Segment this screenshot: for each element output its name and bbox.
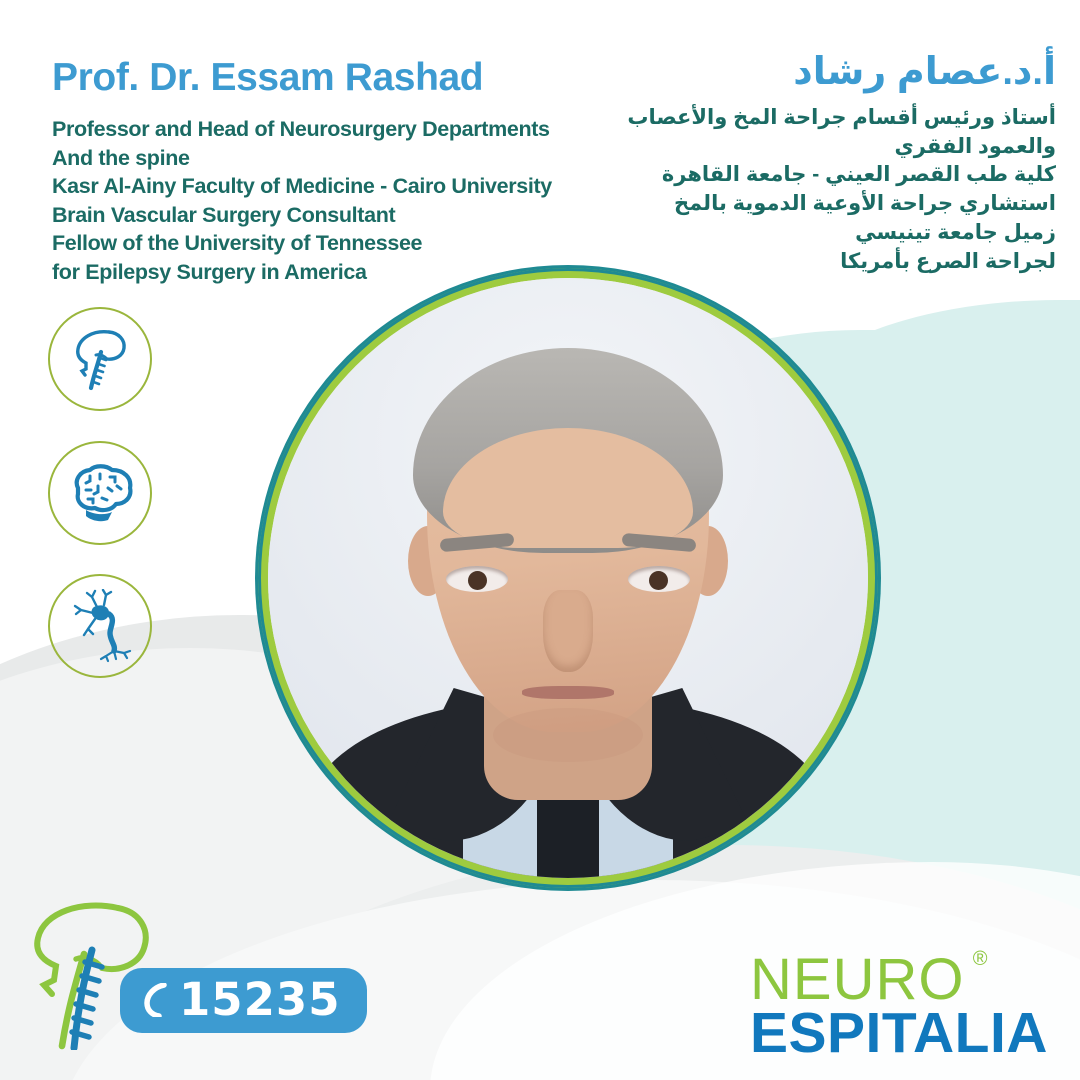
brand-logo: NEURO ® ESPITALIA: [750, 952, 1050, 1062]
phone-number: 15235: [179, 977, 341, 1022]
credential-line-ar: والعمود الفقري: [626, 133, 1056, 162]
doctor-name-arabic: أ.د.عصام رشاد: [626, 52, 1056, 94]
credential-line-en: Brain Vascular Surgery Consultant: [52, 201, 652, 230]
registered-trademark-icon: ®: [973, 950, 989, 970]
credential-line-ar: كلية طب القصر العيني - جامعة القاهرة: [626, 161, 1056, 190]
promo-card: Prof. Dr. Essam Rashad Professor and Hea…: [0, 0, 1080, 1080]
credential-line-en: And the spine: [52, 144, 652, 173]
credential-line-ar: استشاري جراحة الأوعية الدموية بالمخ: [626, 190, 1056, 219]
portrait-photo: [268, 278, 868, 878]
credential-line-en: Kasr Al-Ainy Faculty of Medicine - Cairo…: [52, 172, 652, 201]
arabic-text-block: أ.د.عصام رشاد أستاذ ورئيس أقسام جراحة ال…: [626, 52, 1056, 276]
head-spine-icon: [48, 307, 152, 411]
brain-icon: [48, 441, 152, 545]
phone-badge[interactable]: 15235: [120, 968, 367, 1033]
credential-line-ar: أستاذ ورئيس أقسام جراحة المخ والأعصاب: [626, 104, 1056, 133]
english-text-block: Prof. Dr. Essam Rashad Professor and Hea…: [52, 58, 652, 287]
phone-icon: [142, 983, 172, 1017]
portrait-ring: [258, 268, 878, 888]
credential-line-ar: لجراحة الصرع بأمريكا: [626, 248, 1056, 277]
logo-word-espitalia: ESPITALIA: [750, 1005, 1050, 1062]
logo-word-neuro: NEURO ®: [750, 952, 964, 1009]
credential-line-en: Professor and Head of Neurosurgery Depar…: [52, 115, 652, 144]
doctor-name-english: Prof. Dr. Essam Rashad: [52, 58, 652, 99]
credential-line-ar: زميل جامعة تينيسي: [626, 219, 1056, 248]
credential-line-en: Fellow of the University of Tennessee: [52, 229, 652, 258]
logo-neuro-text: NEURO: [750, 947, 964, 1012]
neuron-icon: [48, 574, 152, 678]
